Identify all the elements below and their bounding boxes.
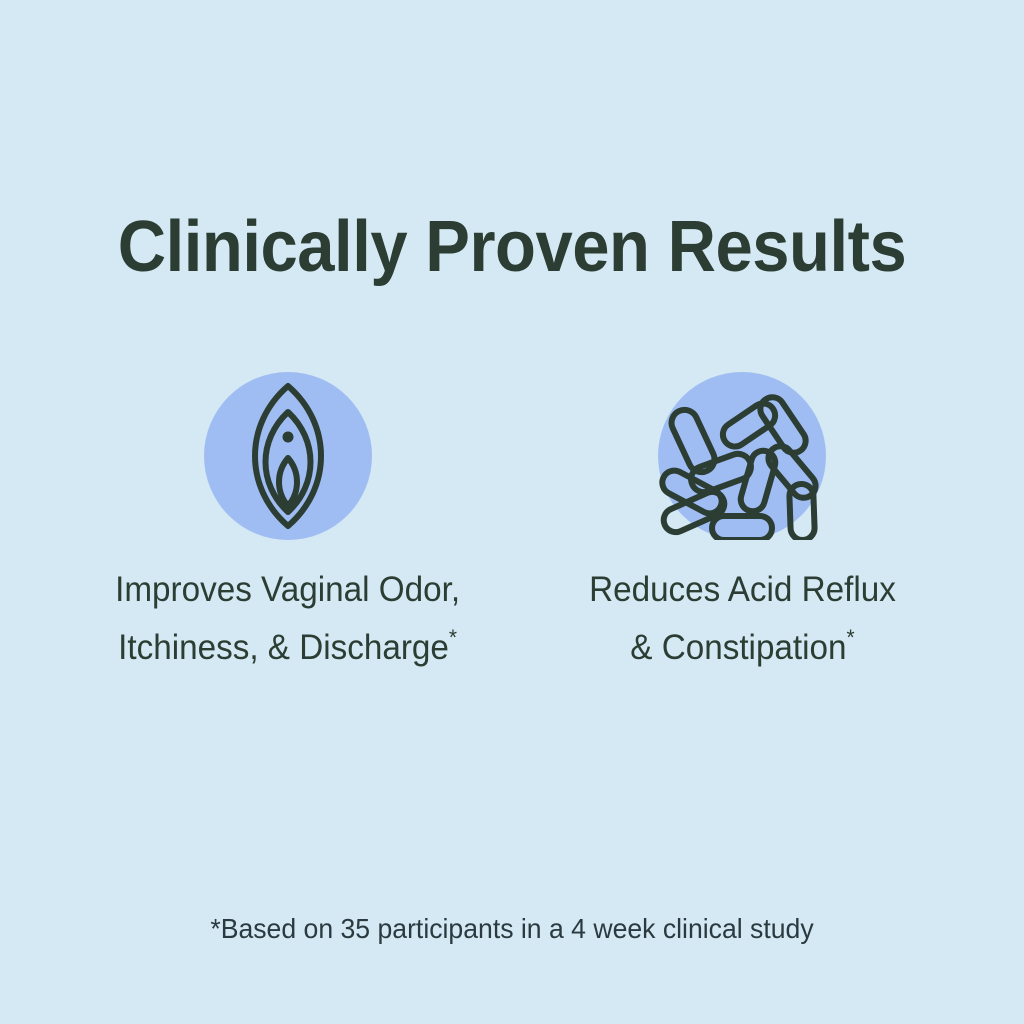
clinical-results-card: Clinically Proven Results Improves Vagin…	[0, 0, 1024, 1024]
benefit-label-asterisk: *	[449, 625, 457, 650]
benefit-label-line-1: Reduces Acid Reflux	[589, 570, 896, 609]
benefit-label-digestive-health: Reduces Acid Reflux & Constipation*	[589, 566, 896, 672]
benefit-item-vaginal-health: Improves Vaginal Odor, Itchiness, & Disc…	[58, 372, 518, 672]
page-title: Clinically Proven Results	[36, 204, 988, 290]
vulva-icon	[204, 372, 372, 540]
benefit-label-line-2: Itchiness, & Discharge	[119, 628, 450, 667]
benefit-label-line-2: & Constipation	[630, 628, 846, 667]
bacteria-icon	[658, 372, 826, 540]
footnote-text: *Based on 35 participants in a 4 week cl…	[26, 912, 999, 946]
benefit-label-line-1: Improves Vaginal Odor,	[116, 570, 461, 609]
benefit-label-vaginal-health: Improves Vaginal Odor, Itchiness, & Disc…	[116, 566, 461, 672]
benefit-item-digestive-health: Reduces Acid Reflux & Constipation*	[512, 372, 972, 672]
benefits-row: Improves Vaginal Odor, Itchiness, & Disc…	[0, 372, 1024, 692]
vulva-icon-circle	[204, 372, 372, 540]
benefit-label-asterisk: *	[846, 625, 854, 650]
bacteria-icon-circle	[658, 372, 826, 540]
